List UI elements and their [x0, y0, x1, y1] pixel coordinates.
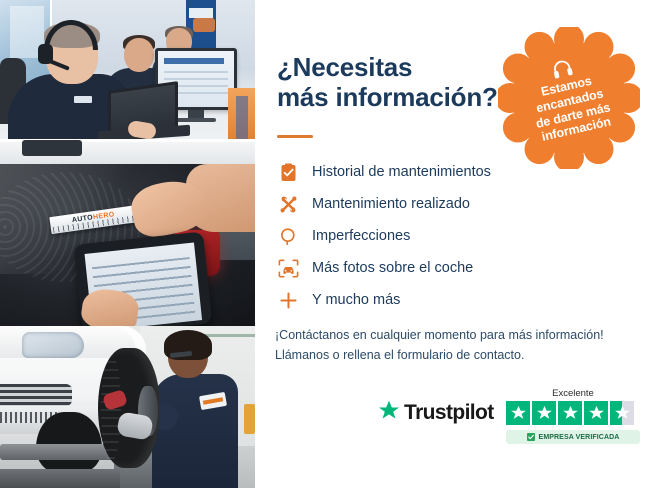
contact-paragraph: ¡Contáctanos en cualquier momento para m…: [275, 325, 640, 366]
trustpilot-star-icon: [378, 400, 400, 426]
verified-check-icon: [527, 433, 535, 441]
feature-label: Imperfecciones: [303, 228, 410, 244]
star-filled: [584, 401, 608, 425]
feature-label: Mantenimiento realizado: [303, 196, 470, 212]
starburst-shape-icon: [498, 27, 640, 169]
feature-label: Historial de mantenimientos: [303, 164, 491, 180]
feature-item-historial[interactable]: Historial de mantenimientos: [273, 156, 633, 188]
star-filled: [558, 401, 582, 425]
promo-card: AUTOHERO: [0, 0, 650, 488]
page-title: ¿Necesitas más información?: [277, 52, 517, 113]
feature-label: Más fotos sobre el coche: [303, 260, 473, 276]
trustpilot-logo[interactable]: Trustpilot: [378, 400, 494, 426]
promo-starburst-badge: Estamos encantados de darte más informac…: [498, 27, 640, 169]
content-panel: ¿Necesitas más información?: [255, 0, 650, 488]
page-title-line-1: ¿Necesitas: [277, 52, 517, 82]
feature-item-imperfecciones[interactable]: Imperfecciones: [273, 220, 633, 252]
trustpilot-rating: Excelente: [506, 388, 640, 444]
photo-column: AUTOHERO: [0, 0, 255, 488]
feature-list: Historial de mantenimientos M: [273, 156, 633, 316]
star-filled: [506, 401, 530, 425]
photo-mechanic-inspecting-wheel: [0, 326, 255, 488]
feature-item-mantenimiento[interactable]: Mantenimiento realizado: [273, 188, 633, 220]
star-filled: [532, 401, 556, 425]
trustpilot-stars: [506, 401, 640, 425]
wrench-screwdriver-icon: [273, 195, 303, 214]
star-half: [610, 401, 634, 425]
contact-line-1: ¡Contáctanos en cualquier momento para m…: [275, 325, 640, 345]
feature-item-mas-fotos[interactable]: Más fotos sobre el coche: [273, 252, 633, 284]
magnifier-icon: [273, 227, 303, 246]
trustpilot-rating-label: Excelente: [506, 388, 640, 399]
car-photo-frame-icon: [273, 259, 303, 278]
feature-item-y-mucho-mas[interactable]: Y mucho más: [273, 284, 633, 316]
photo-call-center-agent-with-headset: [0, 0, 255, 164]
title-divider: [277, 135, 313, 138]
verified-company-text: EMPRESA VERIFICADA: [539, 434, 620, 441]
trustpilot-logo-text: Trustpilot: [404, 401, 494, 425]
trustpilot-widget[interactable]: Trustpilot Excelente: [378, 388, 640, 450]
plus-icon: [273, 291, 303, 310]
photo-inspector-measuring-car-scratch: AUTOHERO: [0, 164, 255, 326]
feature-label: Y mucho más: [303, 292, 400, 308]
page-title-line-2: más información?: [277, 82, 517, 112]
contact-line-2: Llámanos o rellena el formulario de cont…: [275, 345, 640, 365]
clipboard-check-icon: [273, 163, 303, 182]
verified-company-badge: EMPRESA VERIFICADA: [506, 430, 640, 444]
